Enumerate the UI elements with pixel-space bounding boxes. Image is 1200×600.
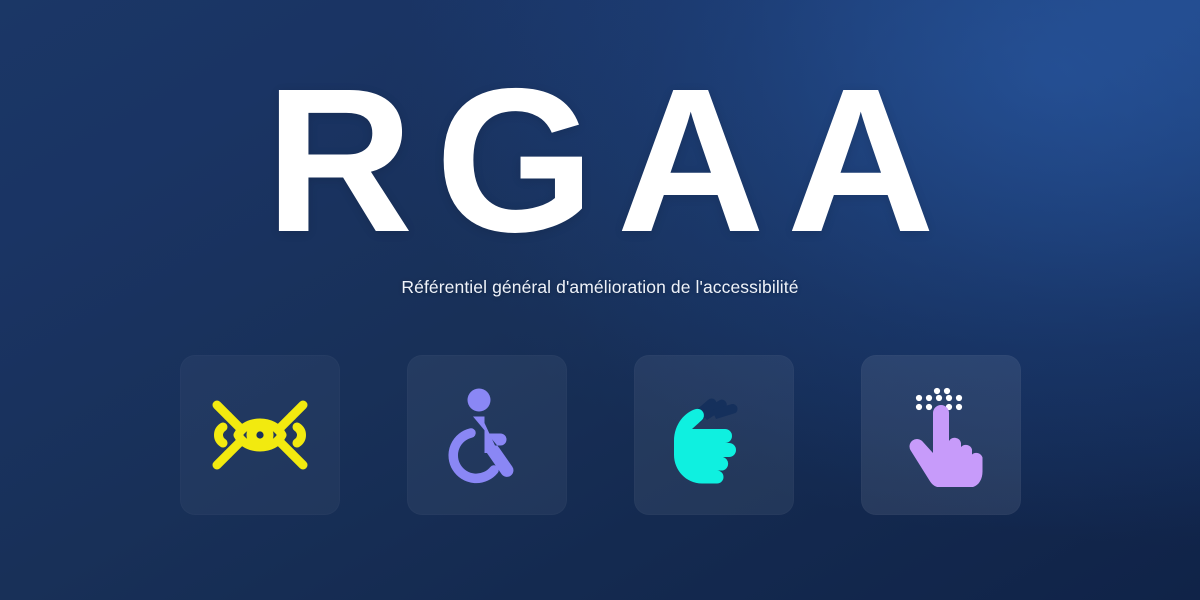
wheelchair-accessibility-icon [435, 383, 539, 487]
accessibility-icon-row [180, 355, 1021, 515]
braille-touch-finger-icon [889, 383, 993, 487]
icon-tile-braille[interactable] [861, 355, 1021, 515]
hero-banner: RGAA Référentiel général d'amélioration … [0, 0, 1200, 600]
page-subtitle: Référentiel général d'amélioration de l'… [401, 277, 798, 298]
page-title: RGAA [243, 58, 957, 263]
sign-language-hand-icon [662, 383, 766, 487]
low-vision-eye-icon [208, 383, 312, 487]
icon-tile-wheelchair[interactable] [407, 355, 567, 515]
icon-tile-sign-language[interactable] [634, 355, 794, 515]
hero-content: RGAA Référentiel général d'amélioration … [0, 0, 1200, 600]
icon-tile-low-vision[interactable] [180, 355, 340, 515]
